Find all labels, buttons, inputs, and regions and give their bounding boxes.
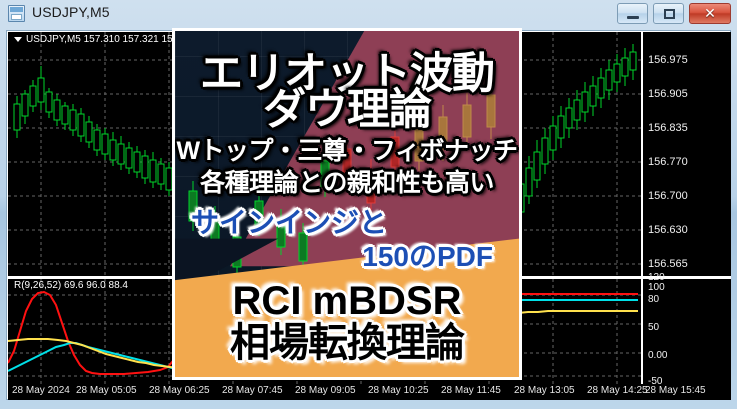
time-tick: 28 May 09:05 xyxy=(295,385,356,396)
promo-line-7: RCI mBDSR xyxy=(175,281,519,321)
promo-line-6: 150のPDF xyxy=(175,243,519,271)
time-tick: 28 May 10:25 xyxy=(368,385,429,396)
time-tick: 28 May 14:25 xyxy=(587,385,648,396)
time-tick: 28 May 06:25 xyxy=(149,385,210,396)
window-title: USDJPY,M5 xyxy=(32,4,110,20)
rci-header-label: R(9,26,52) 69.6 96.0 88.4 xyxy=(14,280,128,291)
metatrader-chart-window: USDJPY,M5 ✕ xyxy=(0,0,737,409)
close-button[interactable]: ✕ xyxy=(689,3,731,24)
price-tick: 156.630 xyxy=(648,224,688,236)
chart-window-icon xyxy=(8,5,25,22)
chart-menu-caret-icon[interactable] xyxy=(14,37,22,42)
time-tick: 28 May 13:05 xyxy=(514,385,575,396)
promo-line-8: 相場転換理論 xyxy=(175,323,519,363)
window-controls: ✕ xyxy=(612,3,731,25)
time-axis: 28 May 2024 28 May 05:05 28 May 06:25 28… xyxy=(8,384,731,400)
minimize-icon xyxy=(627,16,639,19)
rci-tick: 80 xyxy=(648,294,659,305)
chart-header-label: USDJPY,M5 157.310 157.321 157. xyxy=(14,34,181,45)
rci-tick: 0.00 xyxy=(648,350,667,361)
promo-overlay: エリオット波動 ダウ理論 Wトップ・三尊・フィボナッチ 各種理論との親和性も高い… xyxy=(172,28,522,380)
time-tick: 28 May 05:05 xyxy=(76,385,137,396)
promo-line-3: Wトップ・三尊・フィボナッチ xyxy=(175,139,519,164)
time-tick: 28 May 15:45 xyxy=(645,385,706,396)
price-tick: 156.835 xyxy=(648,122,688,134)
promo-line-4: 各種理論との親和性も高い xyxy=(175,171,519,196)
price-tick: 156.905 xyxy=(648,88,688,100)
close-icon: ✕ xyxy=(690,4,730,23)
maximize-icon xyxy=(664,9,675,19)
chart-header-text: USDJPY,M5 157.310 157.321 157. xyxy=(26,34,181,45)
price-tick: 156.565 xyxy=(648,258,688,270)
price-tick: 156.975 xyxy=(648,54,688,66)
time-tick: 28 May 07:45 xyxy=(222,385,283,396)
time-tick: 28 May 11:45 xyxy=(441,385,501,396)
titlebar: USDJPY,M5 ✕ xyxy=(0,0,737,28)
promo-line-5: サインインジと xyxy=(175,209,519,237)
maximize-button[interactable] xyxy=(653,3,684,24)
rci-tick: 100 xyxy=(648,282,665,293)
promo-line-2: ダウ理論 xyxy=(175,89,519,132)
price-tick: 156.700 xyxy=(648,190,688,202)
promo-text-block: エリオット波動 ダウ理論 Wトップ・三尊・フィボナッチ 各種理論との親和性も高い… xyxy=(175,31,519,377)
minimize-button[interactable] xyxy=(617,3,648,24)
price-axis-separator xyxy=(641,32,643,384)
time-tick: 28 May 2024 xyxy=(12,385,70,396)
price-tick: 156.770 xyxy=(648,156,688,168)
rci-tick: 50 xyxy=(648,322,659,333)
